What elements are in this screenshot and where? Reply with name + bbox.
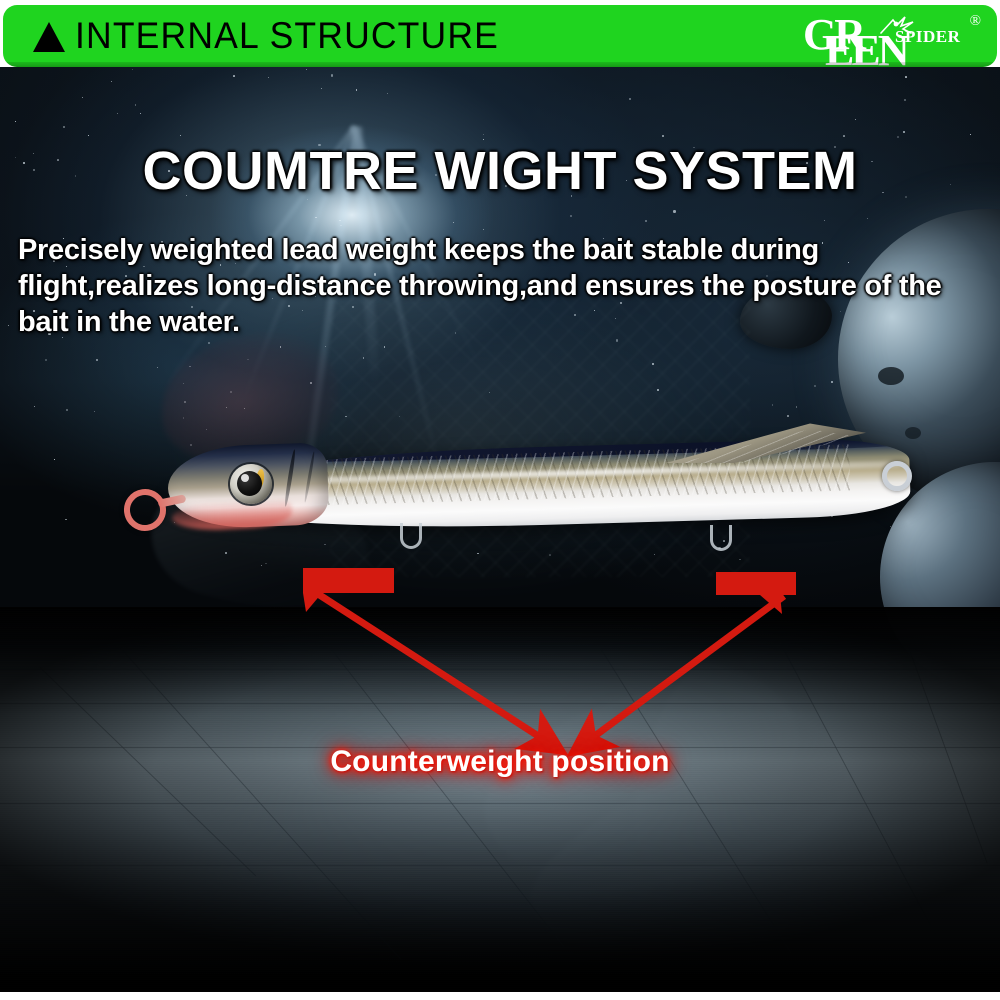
stone-floor-vignette <box>0 607 1000 992</box>
counterweight-marker-rear <box>716 572 796 595</box>
brand-logo: GR EEN SPIDER ® <box>803 13 983 63</box>
lure-eye-highlight <box>241 474 249 482</box>
registered-trademark-icon: ® <box>970 13 981 30</box>
counterweight-marker-front <box>303 568 394 593</box>
header-title: INTERNAL STRUCTURE <box>75 13 499 59</box>
lure-hook-hanger <box>400 523 422 549</box>
lure-nose-tow-ring <box>121 486 168 533</box>
lure-tail-hook-ring <box>882 461 912 491</box>
spider-spark-icon <box>879 15 919 37</box>
hero-headline: COUMTRE WIGHT SYSTEM <box>0 140 1000 202</box>
bottom-margin <box>0 992 1000 1000</box>
triangle-up-icon <box>33 22 65 52</box>
counterweight-position-label: Counterweight position <box>0 745 1000 779</box>
hero-body-text: Precisely weighted lead weight keeps the… <box>18 232 993 340</box>
product-infographic-page: INTERNAL STRUCTURE GR EEN SPIDER ® <box>0 0 1000 1000</box>
fishing-lure-product-image <box>110 385 910 545</box>
lure-hook-hanger <box>710 525 732 551</box>
section-header-bar: INTERNAL STRUCTURE GR EEN SPIDER ® <box>3 5 997 67</box>
